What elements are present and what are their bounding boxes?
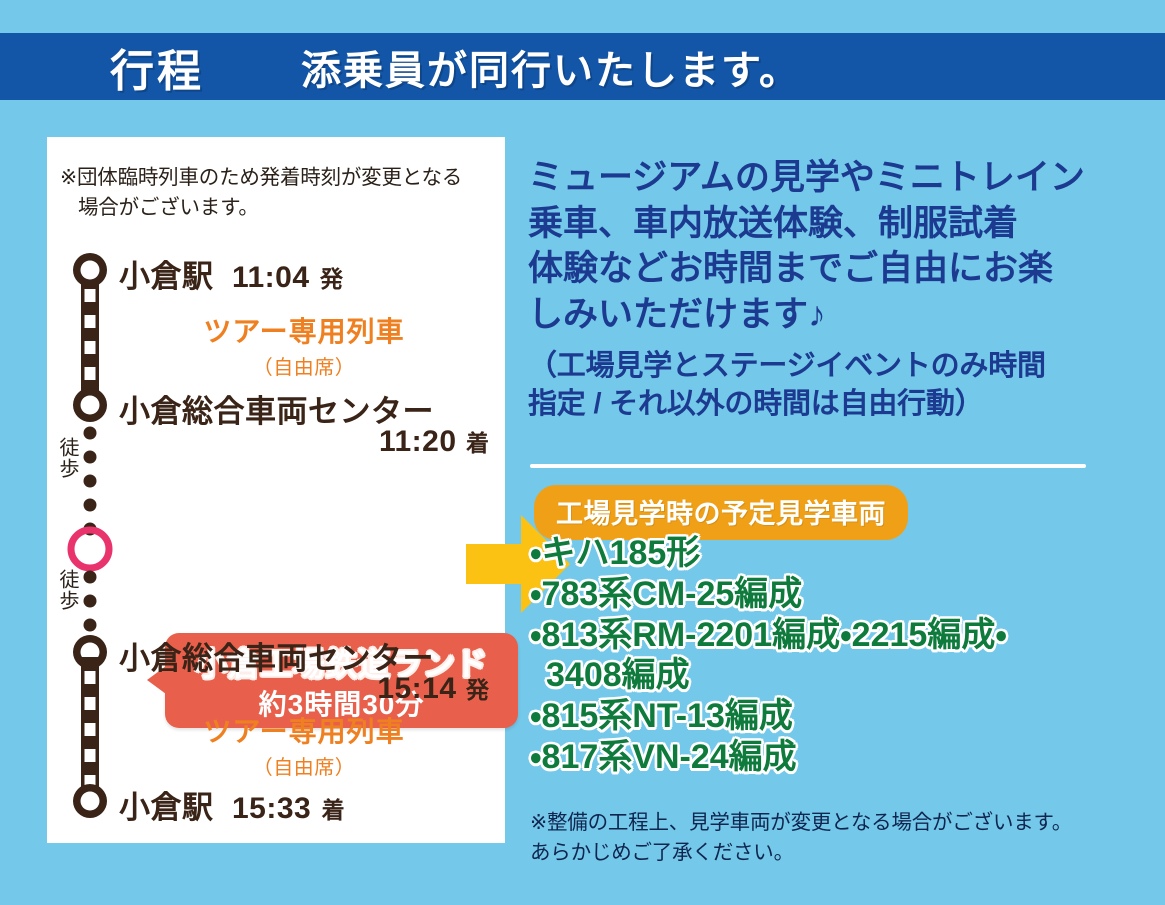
train-segment-1: ツアー専用列車 （自由席） <box>159 310 449 380</box>
timeline-stop-2-time: 11:20 着 <box>119 424 489 459</box>
vehicle-item: ・815系NT-13編成 <box>530 696 1150 737</box>
stop-2-suffix: 着 <box>466 430 489 456</box>
header-subtitle: 添乗員が同行いたします。 <box>301 38 801 96</box>
section-divider <box>530 464 1086 468</box>
vehicle-item: 3408編成 <box>530 655 1150 696</box>
vehicle-section-badge: 工場見学時の予定見学車両 <box>534 485 908 540</box>
intro-parenthetical: （工場見学とステージイベントのみ時間 指定 / それ以外の時間は自由行動） <box>528 347 1140 424</box>
vehicle-footnote: ※整備の工程上、見学車両が変更となる場合がございます。 あらかじめご了承ください… <box>530 808 1150 867</box>
vehicle-list: ・キハ185形 ・783系CM-25編成 ・813系RM-2201編成・2215… <box>530 533 1150 778</box>
stop-4-suffix: 着 <box>322 797 345 823</box>
walk-label-1: 徒歩 <box>51 437 77 479</box>
timeline-stop-4: 小倉駅 15:33 着 <box>119 782 345 827</box>
intro-line-1: ミュージアムの見学やミニトレイン <box>528 155 1140 201</box>
walk-label-2: 徒歩 <box>51 569 77 611</box>
stop-1-name: 小倉駅 <box>119 259 214 294</box>
page-title: 行程 <box>110 35 204 99</box>
timeline-stop-3-time: 15:14 発 <box>119 671 489 706</box>
timeline-stop-1: 小倉駅 11:04 発 <box>119 251 343 296</box>
itinerary-poster: 行程 添乗員が同行いたします。 ※団体臨時列車のため発着時刻が変更となる 場合が… <box>0 0 1165 905</box>
intro-line-4: しみいただけます♪ <box>528 292 1140 338</box>
stop-4-time: 15:33 <box>232 792 311 825</box>
itinerary-card: ※団体臨時列車のため発着時刻が変更となる 場合がございます。 <box>47 137 505 843</box>
stop-3-time: 15:14 <box>377 672 456 705</box>
intro-line-3: 体験などお時間までご自由にお楽 <box>528 246 1140 292</box>
intro-paren-line-1: （工場見学とステージイベントのみ時間 <box>528 347 1140 385</box>
vehicle-item: ・キハ185形 <box>530 533 1150 574</box>
train-segment-1-seat: （自由席） <box>159 351 449 380</box>
stop-3-suffix: 発 <box>466 677 489 703</box>
vehicle-item: ・783系CM-25編成 <box>530 574 1150 615</box>
stop-1-suffix: 発 <box>320 266 343 292</box>
vehicle-item: ・813系RM-2201編成・2215編成・ <box>530 615 1150 656</box>
vehicle-footnote-line-1: ※整備の工程上、見学車両が変更となる場合がございます。 <box>530 808 1150 838</box>
train-segment-2-label: ツアー専用列車 <box>159 710 449 750</box>
train-segment-2: ツアー専用列車 （自由席） <box>159 710 449 780</box>
description-column: ミュージアムの見学やミニトレイン 乗車、車内放送体験、制服試着 体験などお時間ま… <box>528 155 1140 424</box>
intro-line-2: 乗車、車内放送体験、制服試着 <box>528 201 1140 247</box>
intro-paren-line-2: 指定 / それ以外の時間は自由行動） <box>528 385 1140 423</box>
vehicle-item: ・817系VN-24編成 <box>530 737 1150 778</box>
stop-4-name: 小倉駅 <box>119 790 214 825</box>
train-segment-1-label: ツアー専用列車 <box>159 310 449 350</box>
vehicle-footnote-line-2: あらかじめご了承ください。 <box>530 838 1150 868</box>
intro-text: ミュージアムの見学やミニトレイン 乗車、車内放送体験、制服試着 体験などお時間ま… <box>528 155 1140 337</box>
stop-1-time: 11:04 <box>232 261 310 294</box>
highlight-stop-marker <box>71 530 109 568</box>
train-segment-2-seat: （自由席） <box>159 751 449 780</box>
header-band: 行程 添乗員が同行いたします。 <box>0 33 1165 100</box>
stop-2-time: 11:20 <box>379 425 457 458</box>
